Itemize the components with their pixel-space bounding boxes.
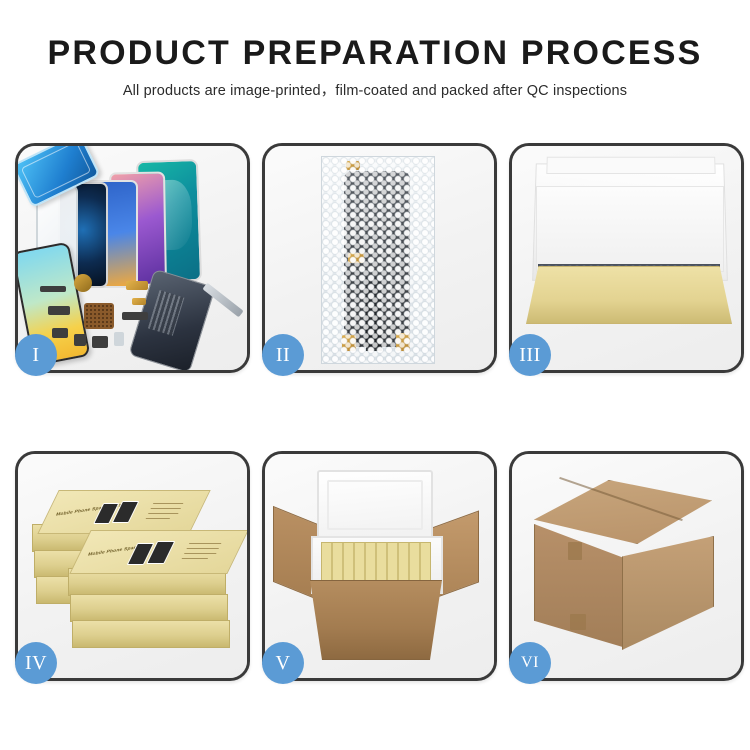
spudger-tool [114,332,124,346]
top-box-lid-lower: Mobile Phone Spare Parts [69,530,247,574]
screw-set [74,334,86,346]
step-image-1 [18,146,247,370]
flex-cable-gold [126,281,148,290]
step-badge-3: III [509,334,551,376]
label-line-u3 [148,513,178,514]
step-card-3[interactable]: III [509,143,744,373]
connector-gold [132,298,146,305]
label-line-u4 [146,518,170,519]
process-step-grid: I II [15,143,735,678]
bubble-wrap-bag [321,156,435,364]
sim-tray [52,328,68,338]
step-badge-4: IV [15,642,57,684]
carton-tape-upper [568,542,582,560]
box-stack: Mobile Phone Spare Parts Mobile Phone Sp… [28,472,240,668]
label-line-u1 [153,503,183,504]
speaker-module [74,274,92,292]
step-badge-5: V [262,642,304,684]
carton-side-face [622,536,714,650]
stacked-box-1 [72,620,230,648]
stacked-box-2 [70,594,228,622]
label-line-u2 [150,508,180,509]
label-line-l3 [184,553,216,554]
step-card-6[interactable]: VI [509,451,744,681]
step-image-4: Mobile Phone Spare Parts Mobile Phone Sp… [18,454,247,678]
step-image-5 [265,454,494,678]
step-badge-2: II [262,334,304,376]
header: PRODUCT PREPARATION PROCESS All products… [0,0,750,100]
bubble-texture [322,157,434,363]
step-image-2 [265,146,494,370]
button-set [92,336,108,348]
label-line-l1 [189,543,221,544]
step-image-6 [512,454,741,678]
step-badge-1: I [15,334,57,376]
earpiece-mesh [40,286,66,292]
page-subtitle: All products are image-printed，film-coat… [0,82,750,100]
yellow-boxes-inside [321,542,431,584]
carton-body [301,580,451,660]
step-image-3 [512,146,741,370]
box-inner-surface [536,186,724,272]
top-box-lid-upper: Mobile Phone Spare Parts [37,490,210,534]
step-card-4[interactable]: Mobile Phone Spare Parts Mobile Phone Sp… [15,451,250,681]
logic-board-part [84,303,114,329]
foam-lid [317,470,433,540]
step-card-5[interactable]: V [262,451,497,681]
vibration-motor [48,306,70,315]
label-line-l2 [186,548,218,549]
yellow-box-base [526,266,732,324]
product-preparation-infographic: PRODUCT PREPARATION PROCESS All products… [0,0,750,750]
step-card-2[interactable]: II [262,143,497,373]
page-title: PRODUCT PREPARATION PROCESS [0,34,750,72]
label-line-l4 [182,558,208,559]
step-card-1[interactable]: I [15,143,250,373]
camera-flex [122,312,148,320]
carton-tape-lower [570,614,586,630]
step-badge-6: VI [509,642,551,684]
